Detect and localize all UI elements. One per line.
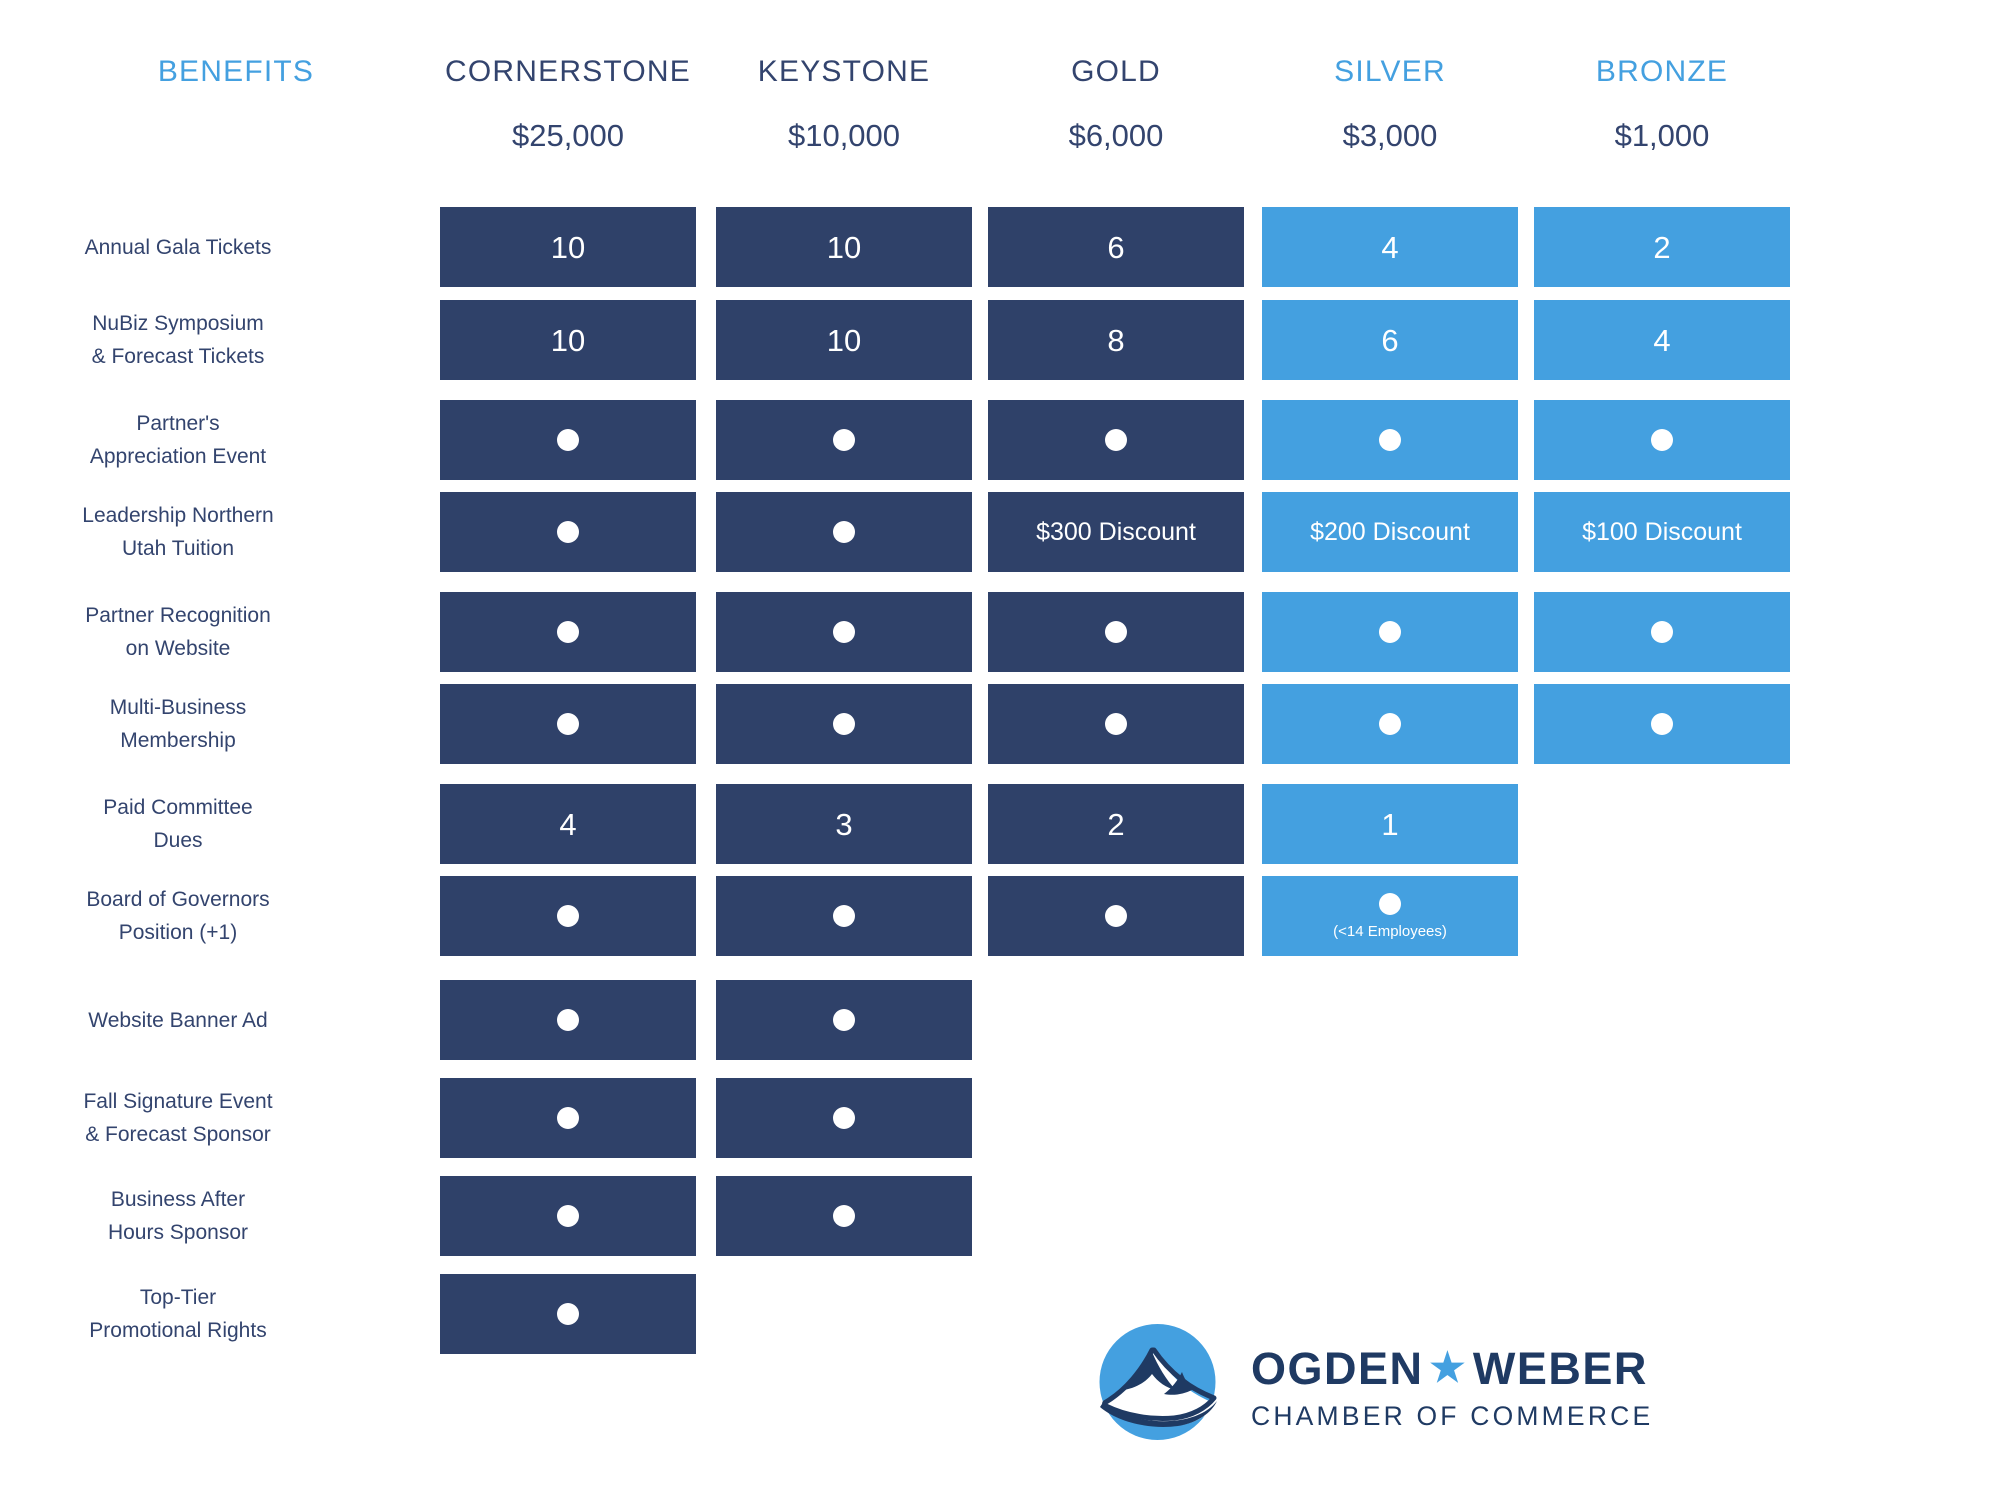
benefit-cell (440, 400, 696, 480)
benefit-cell (1534, 400, 1790, 480)
included-dot-icon (1105, 429, 1127, 451)
benefit-cell (440, 592, 696, 672)
benefit-cell: $200 Discount (1262, 492, 1518, 572)
column-tier-name: KEYSTONE (716, 54, 972, 90)
benefit-cell: 1 (1262, 784, 1518, 864)
benefit-cell (716, 400, 972, 480)
row-label: Multi-BusinessMembership (28, 691, 328, 757)
included-dot-icon (557, 905, 579, 927)
included-dot-icon (1105, 713, 1127, 735)
row-label-line: Website Banner Ad (28, 1004, 328, 1037)
row-label-line: Partner Recognition (28, 599, 328, 632)
benefit-cell: $100 Discount (1534, 492, 1790, 572)
chamber-logo: OGDEN ★ WEBER CHAMBER OF COMMERCE (1090, 1320, 1653, 1455)
row-label: Partner Recognitionon Website (28, 599, 328, 665)
benefit-cell (988, 592, 1244, 672)
cell-value-text: $300 Discount (1036, 520, 1196, 545)
included-dot-icon (557, 1107, 579, 1129)
row-label-line: Leadership Northern (28, 499, 328, 532)
included-dot-icon (833, 1107, 855, 1129)
column-tier-price: $10,000 (716, 118, 972, 154)
included-dot-icon (1379, 713, 1401, 735)
benefit-cell (440, 1176, 696, 1256)
included-dot-icon (833, 521, 855, 543)
benefit-cell: 4 (1534, 300, 1790, 380)
benefit-cell (440, 1274, 696, 1354)
row-label-line: Utah Tuition (28, 532, 328, 565)
cell-value-number: 3 (835, 809, 852, 840)
included-dot-icon (557, 1205, 579, 1227)
benefits-comparison-table: CORNERSTONE$25,000KEYSTONE$10,000GOLD$6,… (0, 0, 2000, 1500)
included-dot-icon (1651, 621, 1673, 643)
column-header-bronze: BRONZE$1,000 (1534, 54, 1790, 154)
cell-value-number: 6 (1381, 325, 1398, 356)
benefit-cell (716, 980, 972, 1060)
row-label-line: Hours Sponsor (28, 1216, 328, 1249)
row-label: NuBiz Symposium& Forecast Tickets (28, 307, 328, 373)
benefit-cell (440, 876, 696, 956)
column-tier-price: $3,000 (1262, 118, 1518, 154)
benefit-cell (716, 592, 972, 672)
star-icon: ★ (1430, 1348, 1467, 1388)
included-dot-icon (833, 713, 855, 735)
row-label-line: Annual Gala Tickets (28, 231, 328, 264)
row-label: Fall Signature Event& Forecast Sponsor (28, 1085, 328, 1151)
cell-value-number: 6 (1107, 232, 1124, 263)
included-dot-icon (557, 713, 579, 735)
row-label: Annual Gala Tickets (28, 231, 328, 264)
column-tier-name: GOLD (988, 54, 1244, 90)
cell-value-number: 10 (551, 325, 585, 356)
included-dot-icon (833, 429, 855, 451)
row-label-line: Promotional Rights (28, 1314, 328, 1347)
logo-weber: WEBER (1473, 1346, 1648, 1391)
column-tier-name: SILVER (1262, 54, 1518, 90)
row-label-line: Position (+1) (28, 916, 328, 949)
benefit-cell (1262, 684, 1518, 764)
benefit-cell: 10 (440, 300, 696, 380)
cell-value-number: 4 (559, 809, 576, 840)
row-label-line: Fall Signature Event (28, 1085, 328, 1118)
cell-value-number: 2 (1107, 809, 1124, 840)
cell-value-number: 4 (1381, 232, 1398, 263)
row-label: Paid CommitteeDues (28, 791, 328, 857)
column-header-cornerstone: CORNERSTONE$25,000 (440, 54, 696, 154)
row-label: Partner'sAppreciation Event (28, 407, 328, 473)
included-dot-icon (557, 1009, 579, 1031)
logo-line-2: CHAMBER OF COMMERCE (1251, 1403, 1653, 1430)
column-tier-price: $6,000 (988, 118, 1244, 154)
row-label-line: Business After (28, 1183, 328, 1216)
benefit-cell: 8 (988, 300, 1244, 380)
column-header-benefits: BENEFITS (86, 54, 386, 90)
benefit-cell (988, 684, 1244, 764)
benefit-cell: 10 (716, 207, 972, 287)
benefit-cell (440, 980, 696, 1060)
row-label-line: Partner's (28, 407, 328, 440)
row-label-line: Appreciation Event (28, 440, 328, 473)
column-header-keystone: KEYSTONE$10,000 (716, 54, 972, 154)
included-dot-icon (1105, 905, 1127, 927)
benefit-cell: 4 (440, 784, 696, 864)
cell-value-number: 10 (827, 325, 861, 356)
logo-wordmark: OGDEN ★ WEBER CHAMBER OF COMMERCE (1251, 1346, 1653, 1430)
benefit-cell (1262, 400, 1518, 480)
included-dot-icon (557, 1303, 579, 1325)
included-dot-icon (1651, 713, 1673, 735)
row-label-line: Top-Tier (28, 1281, 328, 1314)
row-label-line: & Forecast Tickets (28, 340, 328, 373)
included-dot-icon (557, 621, 579, 643)
benefit-cell (440, 492, 696, 572)
benefit-cell (716, 1176, 972, 1256)
cell-value-text: $100 Discount (1582, 520, 1742, 545)
cell-value-number: 1 (1381, 809, 1398, 840)
benefit-cell (988, 876, 1244, 956)
row-label: Leadership NorthernUtah Tuition (28, 499, 328, 565)
column-tier-price: $25,000 (440, 118, 696, 154)
cell-value-number: 8 (1107, 325, 1124, 356)
benefit-cell (1534, 684, 1790, 764)
row-label-line: Paid Committee (28, 791, 328, 824)
benefit-cell: 3 (716, 784, 972, 864)
included-dot-icon (833, 905, 855, 927)
included-dot-icon (1379, 429, 1401, 451)
cell-value-number: 2 (1653, 232, 1670, 263)
benefit-cell (716, 876, 972, 956)
included-dot-icon (1651, 429, 1673, 451)
row-label-line: Multi-Business (28, 691, 328, 724)
benefit-cell (716, 684, 972, 764)
cell-note: (<14 Employees) (1333, 924, 1447, 939)
row-label: Top-TierPromotional Rights (28, 1281, 328, 1347)
benefit-cell: 10 (440, 207, 696, 287)
column-tier-price: $1,000 (1534, 118, 1790, 154)
table-header-row: CORNERSTONE$25,000KEYSTONE$10,000GOLD$6,… (0, 54, 2000, 174)
benefit-cell: 2 (1534, 207, 1790, 287)
benefit-cell (440, 684, 696, 764)
row-label-line: Board of Governors (28, 883, 328, 916)
included-dot-icon (833, 621, 855, 643)
benefit-cell: (<14 Employees) (1262, 876, 1518, 956)
row-label-line: Dues (28, 824, 328, 857)
benefit-cell (716, 1078, 972, 1158)
benefit-cell: 4 (1262, 207, 1518, 287)
cell-value-number: 10 (827, 232, 861, 263)
included-dot-icon (1105, 621, 1127, 643)
benefit-cell (988, 400, 1244, 480)
benefits-header-label: BENEFITS (86, 54, 386, 90)
logo-ogden: OGDEN (1251, 1346, 1424, 1391)
benefit-cell: 2 (988, 784, 1244, 864)
cell-value-number: 4 (1653, 325, 1670, 356)
benefit-cell (716, 492, 972, 572)
cell-value-text: $200 Discount (1310, 520, 1470, 545)
cell-value-number: 10 (551, 232, 585, 263)
benefit-cell: 6 (1262, 300, 1518, 380)
included-dot-icon (1379, 621, 1401, 643)
row-label: Website Banner Ad (28, 1004, 328, 1037)
row-label-line: & Forecast Sponsor (28, 1118, 328, 1151)
row-label-line: Membership (28, 724, 328, 757)
mountain-logo-icon (1090, 1320, 1225, 1455)
included-dot-icon (833, 1009, 855, 1031)
benefit-cell: 6 (988, 207, 1244, 287)
logo-line-1: OGDEN ★ WEBER (1251, 1346, 1653, 1391)
benefit-cell: $300 Discount (988, 492, 1244, 572)
included-dot-icon (833, 1205, 855, 1227)
row-label-line: on Website (28, 632, 328, 665)
column-tier-name: CORNERSTONE (440, 54, 696, 90)
row-label-line: NuBiz Symposium (28, 307, 328, 340)
column-header-silver: SILVER$3,000 (1262, 54, 1518, 154)
included-dot-icon (1379, 893, 1401, 915)
included-dot-icon (557, 521, 579, 543)
included-dot-icon (557, 429, 579, 451)
benefit-cell: 10 (716, 300, 972, 380)
column-header-gold: GOLD$6,000 (988, 54, 1244, 154)
row-label: Business AfterHours Sponsor (28, 1183, 328, 1249)
benefit-cell (1534, 592, 1790, 672)
column-tier-name: BRONZE (1534, 54, 1790, 90)
benefit-cell (1262, 592, 1518, 672)
benefit-cell (440, 1078, 696, 1158)
row-label: Board of GovernorsPosition (+1) (28, 883, 328, 949)
